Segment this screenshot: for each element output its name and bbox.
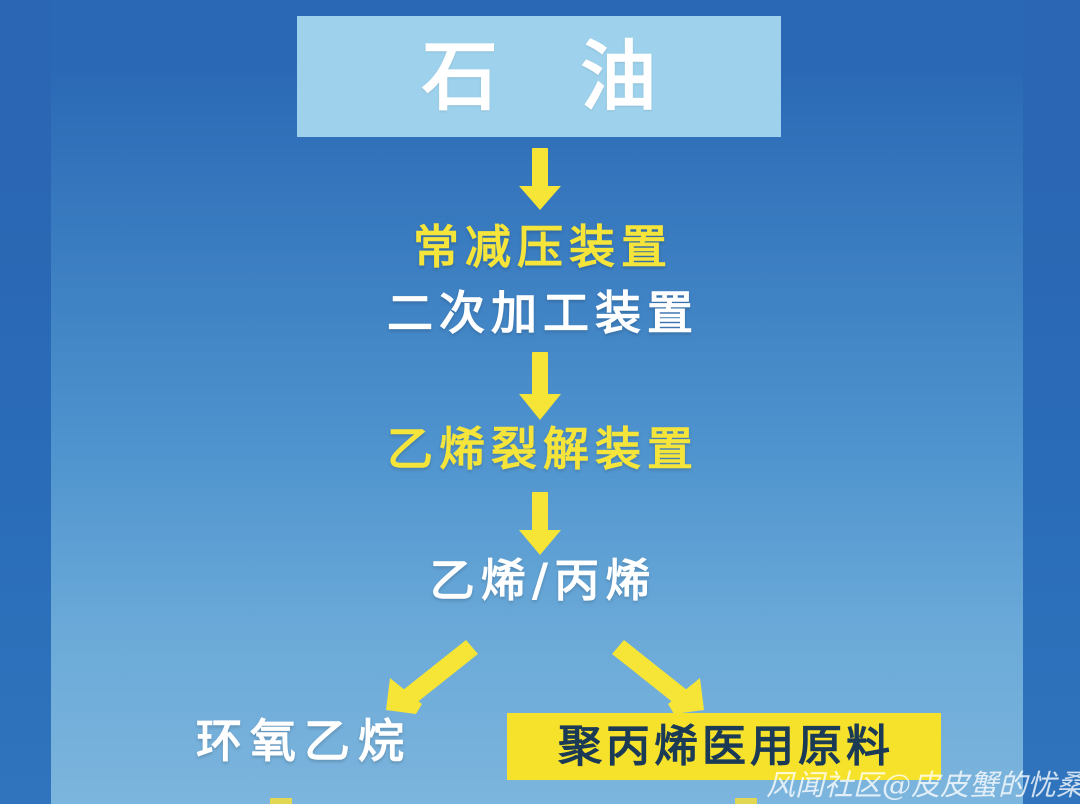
node-atmospheric-vacuum-unit: 常减压装置: [0, 224, 1080, 270]
arrow-below-ethylene-oxide-icon: [270, 798, 292, 804]
left-edge-band: [0, 0, 51, 804]
arrow-below-pp-medical-icon: [735, 798, 757, 804]
arrow-crude-to-cdu-icon: [518, 148, 562, 210]
node-ethylene-oxide: 环氧乙烷: [110, 718, 490, 764]
flowchart-canvas: 石 油 常减压装置 二次加工装置 乙烯裂解装置 乙烯/丙烯: [0, 0, 1080, 804]
node-ethylene-cracker: 乙烯裂解装置: [0, 426, 1080, 472]
node-crude-oil-label: 石 油: [394, 39, 684, 115]
arrow-secondary-to-cracker-icon: [518, 352, 562, 420]
arrow-olefins-to-ethylene-oxide-icon: [370, 638, 480, 718]
arrow-cracker-to-olefins-icon: [518, 492, 562, 556]
node-secondary-processing-unit: 二次加工装置: [0, 290, 1080, 336]
arrow-olefins-to-pp-medical-icon: [610, 638, 720, 718]
watermark: 风闻社区@皮皮蟹的忧桑: [766, 762, 1080, 804]
node-crude-oil: 石 油: [297, 16, 781, 137]
node-ethylene-propylene: 乙烯/丙烯: [0, 558, 1080, 603]
right-edge-band: [1023, 0, 1080, 804]
